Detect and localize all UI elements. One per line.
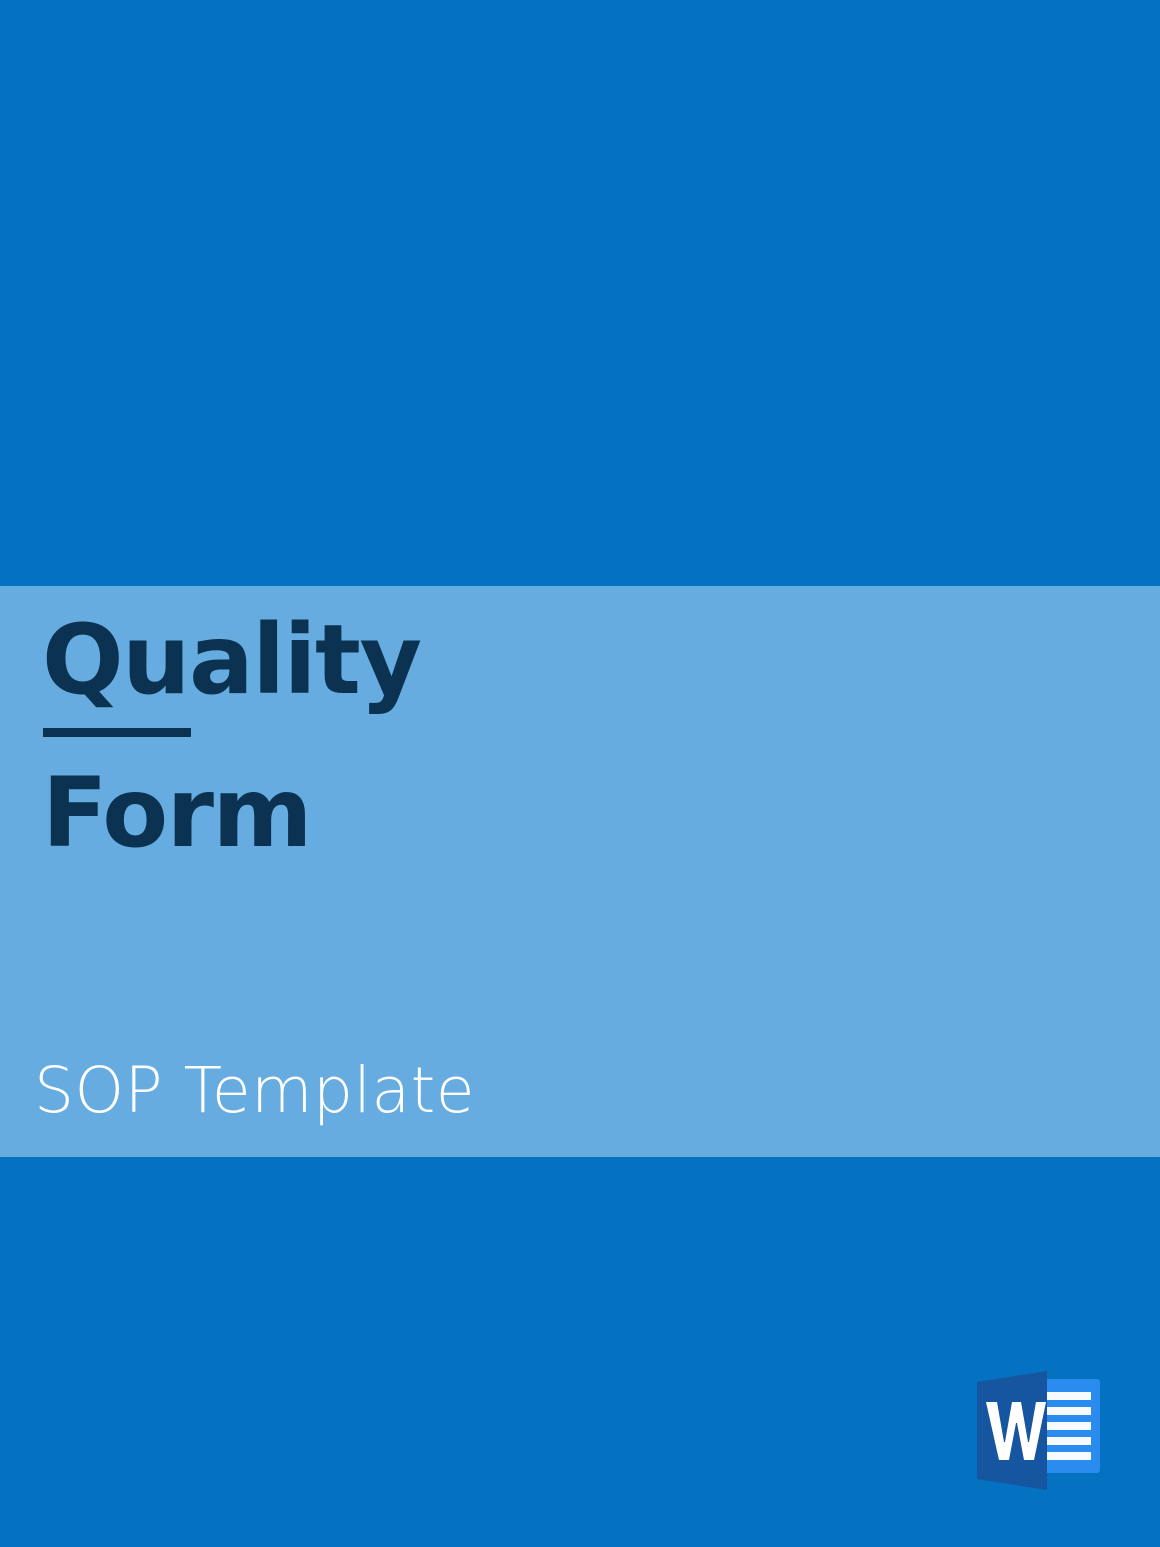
page-title: Quality Form	[42, 612, 942, 863]
top-color-band	[0, 0, 1160, 586]
page-subtitle: SOP Template	[34, 1056, 475, 1125]
microsoft-word-icon	[975, 1368, 1103, 1494]
title-line-primary: Quality	[42, 612, 942, 710]
cover-page: Quality Form SOP Template	[0, 0, 1160, 1547]
title-divider-rule	[43, 728, 191, 737]
title-line-secondary: Form	[42, 765, 942, 863]
